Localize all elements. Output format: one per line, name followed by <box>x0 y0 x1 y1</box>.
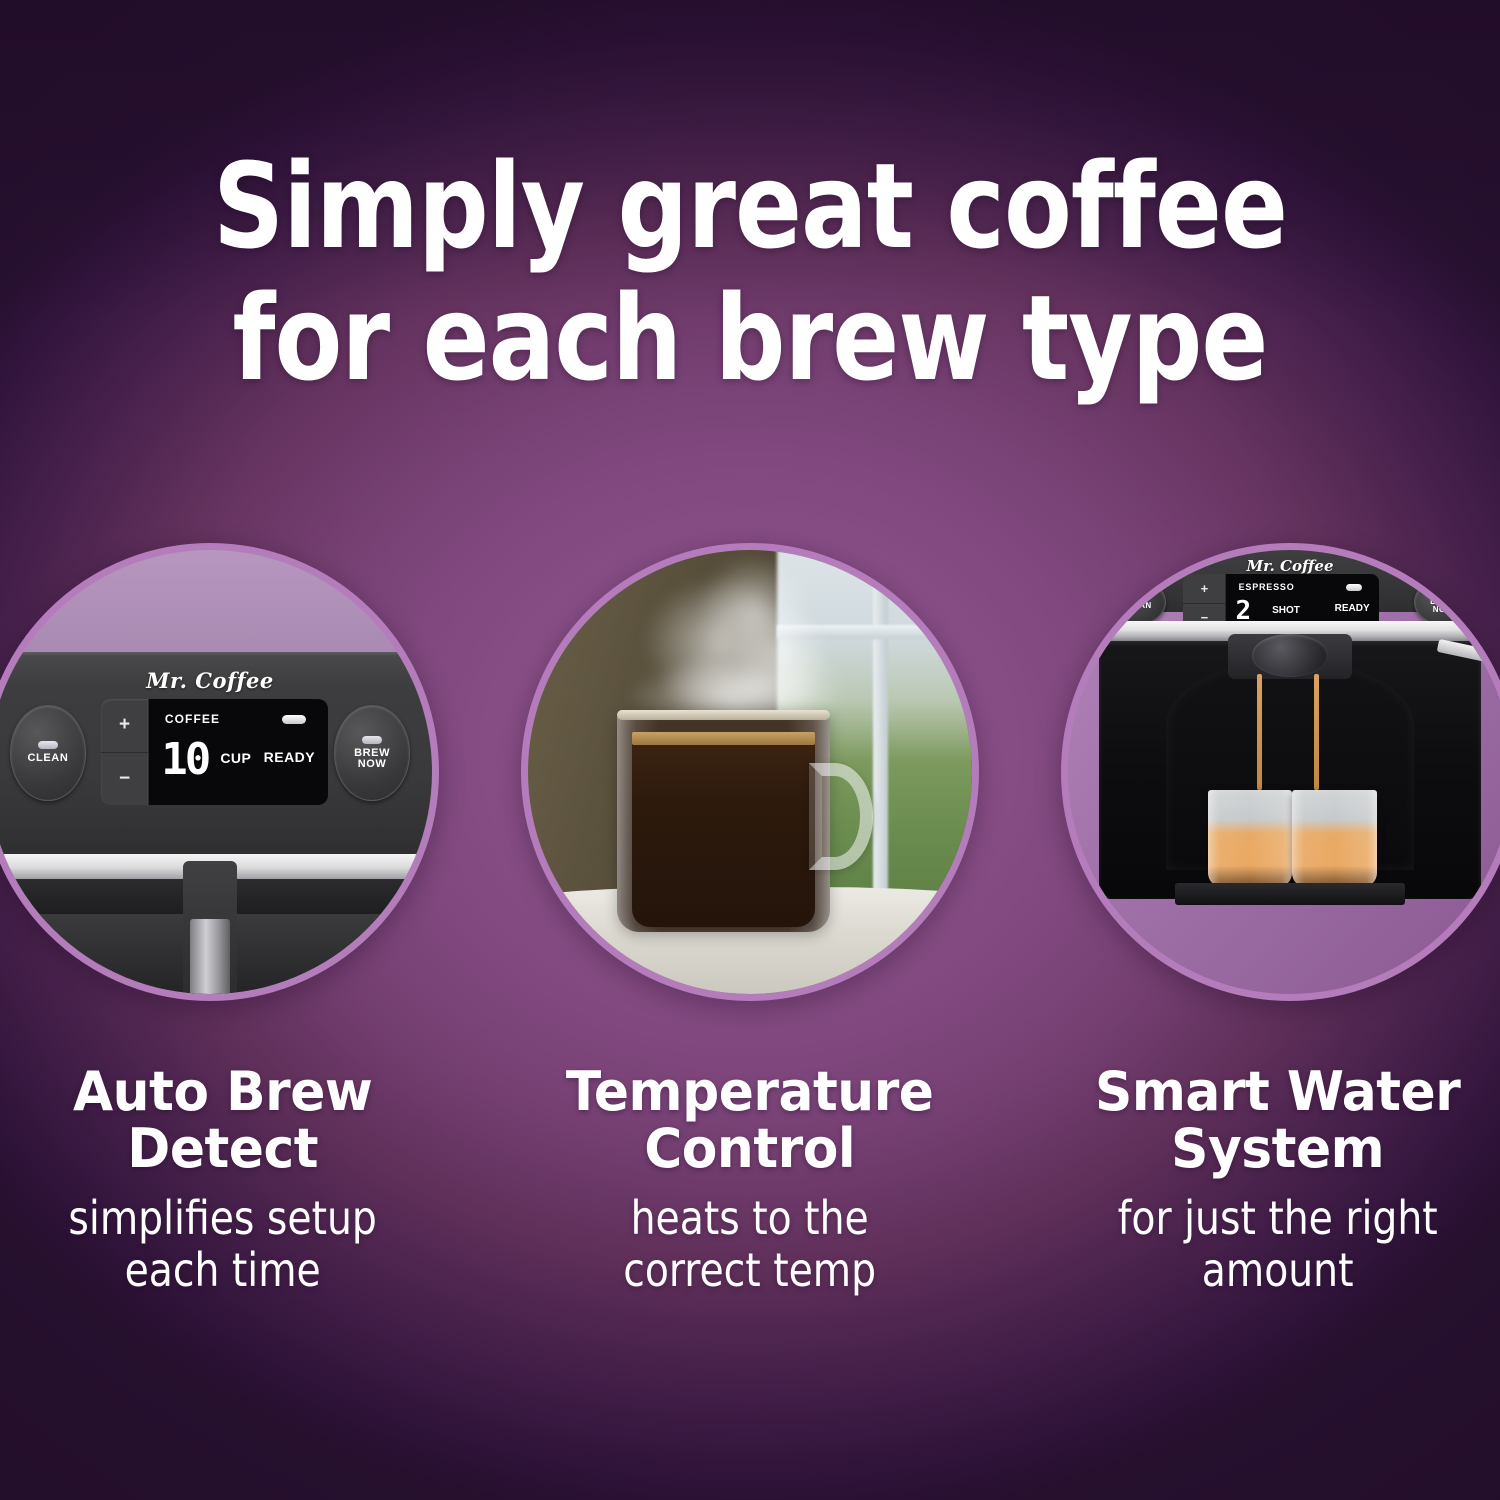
caption-sub-3: for just the right amount <box>1066 1193 1489 1296</box>
increase-button-3[interactable]: + <box>1183 574 1225 603</box>
photo1-upper-wall <box>0 550 432 657</box>
caption-sub-3-line-2: amount <box>1066 1245 1489 1297</box>
ready-label-3: READY <box>1335 603 1370 614</box>
brew-led-icon-1 <box>362 736 382 744</box>
caption-sub-2-line-1: heats to the <box>538 1193 961 1245</box>
caption-title-1-line-1: Auto Brew <box>9 1063 437 1120</box>
espresso-machine-photo: Mr. Coffee CLEAN + − ESPRESSO 2 SHOT <box>1068 550 1500 994</box>
ready-led-icon-3 <box>1346 584 1362 591</box>
caption-smart-water-system: Smart Water System for just the right am… <box>1055 1063 1500 1297</box>
caption-title-2-line-2: Control <box>536 1120 964 1177</box>
caption-sub-1: simplifies setup each time <box>11 1193 434 1296</box>
caption-title-3-line-2: System <box>1064 1120 1492 1177</box>
cup-unit-label: CUP <box>220 750 251 766</box>
caption-sub-2: heats to the correct temp <box>538 1193 961 1296</box>
feature-card-auto-brew-detect: Mr. Coffee CLEAN + − COFFEE 10 CUP <box>0 543 439 1013</box>
caption-title-3-line-1: Smart Water <box>1064 1063 1492 1120</box>
clean-button-1[interactable]: CLEAN <box>10 705 85 800</box>
brand-logo-1: Mr. Coffee <box>0 668 432 693</box>
steaming-mug-photo <box>528 550 972 994</box>
feature-card-temperature-control <box>521 543 979 1013</box>
shot-count-value: 2 <box>1236 600 1250 622</box>
feature-image-circle-3: Mr. Coffee CLEAN + − ESPRESSO 2 SHOT <box>1061 543 1500 1001</box>
brew-led-icon-3 <box>1436 590 1450 596</box>
caption-title-2: Temperature Control <box>536 1063 964 1177</box>
glass-mug <box>617 710 830 932</box>
group-head-dial <box>1252 634 1327 676</box>
headline-line-2: for each brew type <box>53 272 1448 404</box>
caption-sub-1-line-2: each time <box>11 1245 434 1297</box>
clean-button-3[interactable]: CLEAN <box>1108 579 1166 626</box>
feature-image-circle-2 <box>521 543 979 1001</box>
feature-image-circle-1: Mr. Coffee CLEAN + − COFFEE 10 CUP <box>0 543 439 1001</box>
feature-image-row: Mr. Coffee CLEAN + − COFFEE 10 CUP <box>0 543 1500 1013</box>
brew-button-label-3b: NOW <box>1433 606 1454 614</box>
cup-count-value: 10 <box>161 741 208 778</box>
feature-caption-row: Auto Brew Detect simplifies setup each t… <box>0 1063 1500 1297</box>
caption-sub-2-line-2: correct temp <box>538 1245 961 1297</box>
headline-line-1: Simply great coffee <box>53 140 1448 272</box>
caption-sub-3-line-1: for just the right <box>1066 1193 1489 1245</box>
mode-label-3: ESPRESSO <box>1239 582 1295 592</box>
brew-now-button-3[interactable]: BREW NOW <box>1414 579 1472 626</box>
carafe-handle-highlight <box>190 919 230 994</box>
coffee-liquid <box>632 736 815 927</box>
brew-button-label-1b: NOW <box>358 759 387 771</box>
clean-button-label-3: CLEAN <box>1122 602 1152 610</box>
caption-title-2-line-1: Temperature <box>536 1063 964 1120</box>
decrease-button-1[interactable]: − <box>101 753 148 806</box>
caption-title-1: Auto Brew Detect <box>9 1063 437 1177</box>
caption-sub-1-line-1: simplifies setup <box>11 1193 434 1245</box>
clean-led-icon-1 <box>38 741 58 749</box>
lcd-display-1: COFFEE 10 CUP READY <box>149 699 328 806</box>
coffee-maker-photo: Mr. Coffee CLEAN + − COFFEE 10 CUP <box>0 550 432 994</box>
caption-title-3: Smart Water System <box>1064 1063 1492 1177</box>
page-headline: Simply great coffee for each brew type <box>53 140 1448 404</box>
caption-title-1-line-2: Detect <box>9 1120 437 1177</box>
feature-card-smart-water-system: Mr. Coffee CLEAN + − ESPRESSO 2 SHOT <box>1061 543 1500 1013</box>
clean-button-label-1: CLEAN <box>27 753 68 765</box>
plus-minus-pad-1: + − <box>101 699 149 806</box>
espresso-stream-right <box>1314 674 1319 789</box>
shot-unit-label: SHOT <box>1272 605 1300 616</box>
espresso-stream-left <box>1257 674 1262 789</box>
control-panel-1: + − COFFEE 10 CUP READY <box>101 699 327 806</box>
coffee-crema <box>632 732 815 745</box>
ready-label-1: READY <box>264 749 316 765</box>
brand-logo-3: Mr. Coffee <box>1068 557 1500 575</box>
mug-rim <box>617 710 830 720</box>
espresso-cup-left <box>1208 790 1292 888</box>
clean-led-icon-3 <box>1130 594 1144 600</box>
espresso-cup-right <box>1292 790 1376 888</box>
window-mullion-vertical <box>873 550 887 914</box>
ready-led-icon-1 <box>282 715 306 724</box>
drip-tray <box>1175 883 1406 905</box>
increase-button-1[interactable]: + <box>101 699 148 753</box>
mode-label-1: COFFEE <box>165 712 220 726</box>
caption-temperature-control: Temperature Control heats to the correct… <box>527 1063 972 1297</box>
brew-now-button-1[interactable]: BREW NOW <box>334 705 409 800</box>
caption-auto-brew-detect: Auto Brew Detect simplifies setup each t… <box>0 1063 445 1297</box>
